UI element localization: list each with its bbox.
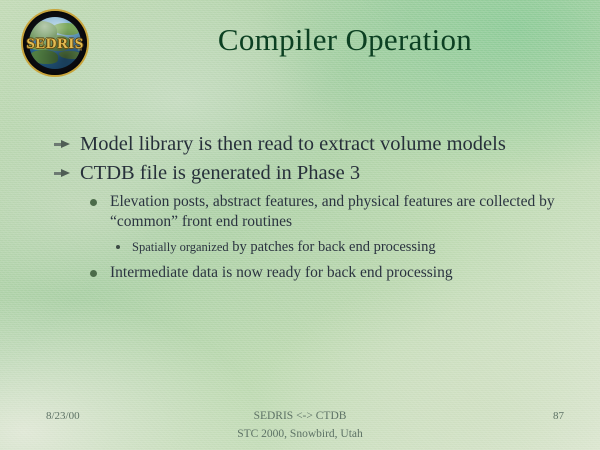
round-bullet-icon [90, 270, 97, 277]
round-bullet-icon [90, 199, 97, 206]
sedris-logo: SEDRIS ™ [17, 11, 94, 75]
bullet-text: Model library is then read to extract vo… [80, 133, 506, 155]
bullet-item-level2: Intermediate data is now ready for back … [52, 263, 582, 283]
bullet-text: by patches for back end processing [229, 239, 436, 255]
slide-body: Model library is then read to extract vo… [52, 131, 582, 283]
bullet-text: CTDB file is generated in Phase 3 [80, 162, 360, 184]
logo-wordmark: SEDRIS [26, 37, 84, 52]
bullet-text-emphasis-small: Spatially organized [132, 240, 229, 254]
small-round-bullet-icon [116, 245, 120, 249]
arrow-bullet-icon [54, 169, 71, 178]
bullet-text: Intermediate data is now ready for back … [110, 264, 453, 281]
bullet-text: Elevation posts, abstract features, and … [110, 193, 555, 230]
bullet-item-level1: Model library is then read to extract vo… [52, 131, 582, 157]
bullet-item-level2: Elevation posts, abstract features, and … [52, 192, 582, 232]
footer-page-number: 87 [553, 410, 564, 422]
bullet-item-level1: CTDB file is generated in Phase 3 [52, 160, 582, 186]
slide-title: Compiler Operation [110, 22, 580, 58]
footer-event-line: STC 2000, Snowbird, Utah [0, 428, 600, 440]
arrow-bullet-icon [54, 140, 71, 149]
slide-footer: 8/23/00 SEDRIS <-> CTDB STC 2000, Snowbi… [0, 408, 600, 450]
footer-title-line: SEDRIS <-> CTDB [0, 410, 600, 422]
trademark-symbol: ™ [77, 49, 82, 54]
bullet-item-level3: Spatially organized by patches for back … [52, 238, 582, 257]
presentation-slide: SEDRIS ™ Compiler Operation Model librar… [0, 0, 600, 450]
